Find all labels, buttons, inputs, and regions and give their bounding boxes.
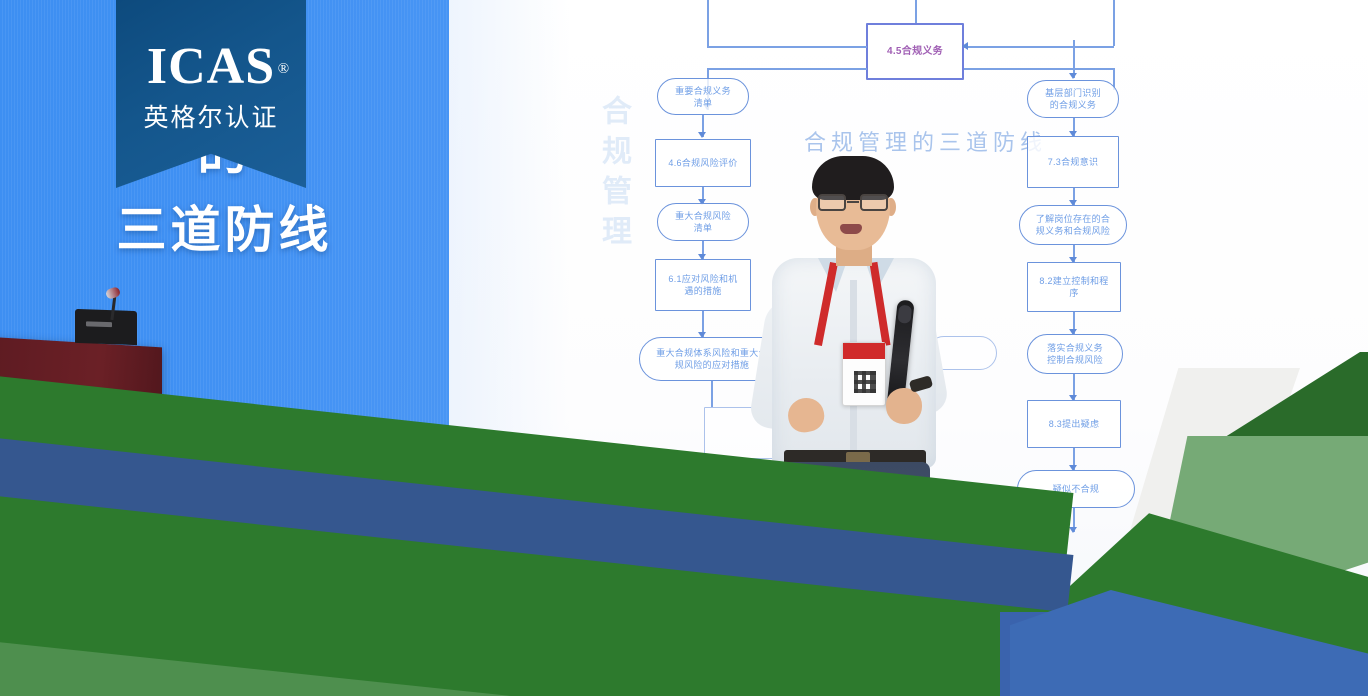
- glasses-icon: [817, 194, 889, 211]
- wall-title-line2: 三道防线: [0, 196, 449, 264]
- flow-arrow: [698, 132, 706, 138]
- brand-wordmark: ICAS ®: [147, 40, 275, 94]
- glasses-lens-left: [818, 194, 846, 211]
- glasses-lens-right: [860, 194, 888, 211]
- glasses-bridge: [847, 201, 859, 203]
- flow-line: [915, 0, 917, 23]
- flow-line: [707, 68, 867, 70]
- flow-line: [711, 381, 713, 407]
- flow-node-important-obligation-list: 重要合规义务 清单: [657, 78, 749, 115]
- speaker-jeans: [782, 462, 930, 652]
- flow-node-suspected-noncompliance: 疑似不合规: [1017, 470, 1135, 508]
- speaker-right-hand: [886, 388, 922, 424]
- id-badge: [842, 342, 886, 406]
- flow-arrow: [962, 42, 968, 50]
- presentation-photo: 的 三道防线 合规管理 合规管理的三道防线 4.5合规义务 重要合规义务 清单 …: [0, 0, 1368, 696]
- speaker: [760, 150, 990, 620]
- qr-code-icon: [854, 371, 876, 393]
- flow-line: [738, 525, 740, 539]
- flow-node-dept-obligation: 基层部门识别 的合规义务: [1027, 80, 1119, 118]
- chevron-blue: [1010, 590, 1368, 696]
- flow-node-6-1: 6.1应对风险和机 遇的措施: [655, 259, 751, 311]
- podium-console: [75, 309, 137, 345]
- flow-line: [964, 68, 1114, 70]
- flow-line: [707, 0, 709, 46]
- flow-line: [964, 46, 1114, 48]
- badge-header: [843, 343, 885, 359]
- flow-node-major-risk-list: 重大合规风险 清单: [657, 203, 749, 241]
- flow-line: [707, 539, 709, 553]
- flow-node-8-3: 8.3提出疑虑: [1027, 400, 1121, 448]
- band-green-light: [0, 636, 696, 696]
- brand-text: ICAS: [147, 38, 275, 95]
- audience-head: [985, 545, 1047, 595]
- chevron-gray: [1060, 612, 1368, 696]
- brand-chinese-name: 英格尔认证: [116, 98, 306, 134]
- flow-node-post-knowledge: 了解岗位存在的合 规义务和合规风险: [1019, 205, 1127, 245]
- speaker-mouth: [840, 224, 862, 234]
- flow-arrow: [1069, 527, 1077, 533]
- flow-node-7-3: 7.3合规意识: [1027, 136, 1119, 188]
- flow-node-8-2: 8.2建立控制和程 序: [1027, 262, 1121, 312]
- podium: [0, 337, 162, 492]
- registered-trademark-icon: ®: [278, 42, 290, 96]
- audience-head: [630, 535, 690, 583]
- flow-line: [1113, 0, 1115, 46]
- flow-node-4-6: 4.6合规风险评价: [655, 139, 751, 187]
- flow-node-4-5: 4.5合规义务: [866, 23, 964, 80]
- chevron-blue-edge: [1000, 612, 1070, 696]
- flow-arrow: [1069, 73, 1077, 79]
- flow-line: [707, 46, 867, 48]
- flow-node-fulfill-obligation: 落实合规义务 控制合规风险: [1027, 334, 1123, 374]
